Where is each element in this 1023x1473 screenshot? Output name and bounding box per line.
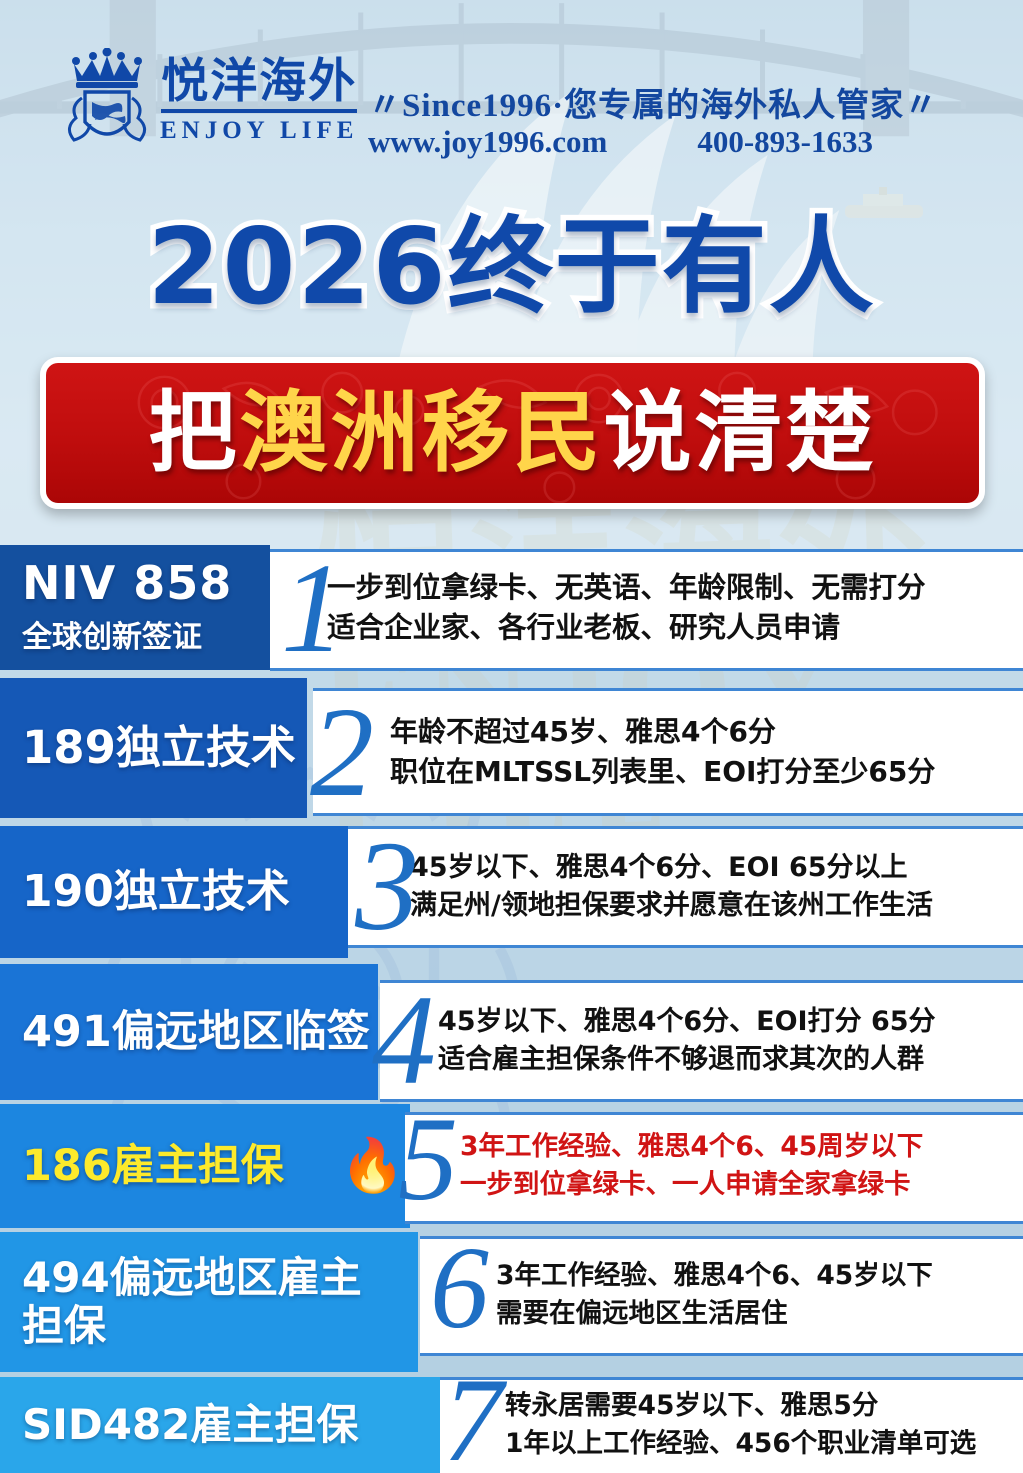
step-number: 4 xyxy=(372,986,436,1095)
detail-line: 转永居需要45岁以下、雅思5分 xyxy=(505,1387,1023,1425)
visa-label: NIV 858 全球创新签证 xyxy=(0,545,270,670)
detail-line: 需要在偏远地区生活居住 xyxy=(496,1295,1021,1333)
headline-text: 2026终于有人 xyxy=(147,215,875,320)
banner-part-2: 澳洲移民 xyxy=(239,381,603,484)
visa-code: 190独立技术 xyxy=(22,868,330,916)
phone-number[interactable]: 400-893-1633 xyxy=(697,124,873,160)
poster-root: 悦洋海外ENJOYLIFE xyxy=(0,0,1023,1473)
step-number: 7 xyxy=(443,1369,503,1471)
detail-line: 满足州/领地担保要求并愿意在该州工作生活 xyxy=(410,887,1020,925)
detail-line: 3年工作经验、雅思4个6、45周岁以下 xyxy=(460,1128,1020,1166)
step-number: 2 xyxy=(310,698,374,807)
step-number: 6 xyxy=(430,1238,489,1338)
detail-line: 45岁以下、雅思4个6分、EOI 65分以上 xyxy=(410,849,1020,887)
detail-line: 1年以上工作经验、456个职业清单可选 xyxy=(505,1425,1023,1463)
visa-row[interactable]: SID482雇主担保 7 转永居需要45岁以下、雅思5分 1年以上工作经验、45… xyxy=(0,1377,1023,1473)
banner-part-3: 说清楚 xyxy=(604,381,877,484)
header-slogan: 〃Since1996·您专属的海外私人管家〃 xyxy=(368,78,938,126)
visa-code: 186雇主担保 xyxy=(22,1143,392,1189)
visa-detail-lines: 转永居需要45岁以下、雅思5分 1年以上工作经验、456个职业清单可选 xyxy=(505,1371,1023,1473)
visa-label: 190独立技术 xyxy=(0,826,348,958)
visa-label: 491偏远地区临签 xyxy=(0,964,378,1100)
brand-logo: 悦洋海外 ENJOY LIFE xyxy=(62,48,358,156)
visa-detail-lines: 年龄不超过45岁、雅思4个6分 职位在MLTSSL列表里、EOI打分至少65分 xyxy=(390,694,1020,810)
visa-label: SID482雇主担保 xyxy=(0,1377,440,1473)
title-banner: 把澳洲移民说清楚 xyxy=(40,357,985,509)
visa-detail-lines: 3年工作经验、雅思4个6、45周岁以下 一步到位拿绿卡、一人申请全家拿绿卡 xyxy=(460,1112,1020,1220)
visa-code: 189独立技术 xyxy=(22,724,289,773)
visa-row-highlight[interactable]: 186雇主担保 🔥 5 3年工作经验、雅思4个6、45周岁以下 一步到位拿绿卡、… xyxy=(0,1104,1023,1232)
header: 悦洋海外 ENJOY LIFE 〃Since1996·您专属的海外私人管家〃 w… xyxy=(0,0,1023,200)
logo-english-name: ENJOY LIFE xyxy=(160,117,358,145)
crown-shield-globe-icon xyxy=(62,48,152,156)
visa-code: 494偏远地区雇主担保 xyxy=(22,1254,400,1350)
main-headline: 2026终于有人 xyxy=(0,215,1023,320)
visa-code: SID482雇主担保 xyxy=(22,1402,422,1447)
banner-text: 把澳洲移民说清楚 xyxy=(148,389,876,477)
detail-line: 适合雇主担保条件不够退而求其次的人群 xyxy=(438,1041,1020,1079)
visa-label: 189独立技术 xyxy=(0,678,307,818)
visa-row[interactable]: 494偏远地区雇主担保 6 3年工作经验、雅思4个6、45岁以下 需要在偏远地区… xyxy=(0,1232,1023,1377)
visa-row[interactable]: 189独立技术 2 年龄不超过45岁、雅思4个6分 职位在MLTSSL列表里、E… xyxy=(0,678,1023,826)
visa-detail-lines: 3年工作经验、雅思4个6、45岁以下 需要在偏远地区生活居住 xyxy=(496,1236,1021,1354)
header-contact: www.joy1996.com 400-893-1633 xyxy=(368,124,968,160)
detail-line: 适合企业家、各行业老板、研究人员申请 xyxy=(327,608,1017,648)
step-number: 5 xyxy=(398,1108,458,1210)
detail-line: 年龄不超过45岁、雅思4个6分 xyxy=(390,712,1020,752)
detail-line: 职位在MLTSSL列表里、EOI打分至少65分 xyxy=(390,752,1020,792)
visa-label: 494偏远地区雇主担保 xyxy=(0,1232,418,1372)
visa-code: 491偏远地区临签 xyxy=(22,1009,360,1055)
banner-part-1: 把 xyxy=(148,381,239,484)
logo-chinese-name: 悦洋海外 xyxy=(161,59,357,113)
visa-subtitle: 全球创新签证 xyxy=(22,612,252,656)
detail-line: 一步到位拿绿卡、一人申请全家拿绿卡 xyxy=(460,1166,1020,1204)
detail-line: 45岁以下、雅思4个6分、EOI打分 65分 xyxy=(438,1003,1020,1041)
visa-row[interactable]: 491偏远地区临签 4 45岁以下、雅思4个6分、EOI打分 65分 适合雇主担… xyxy=(0,964,1023,1104)
visa-detail-lines: 45岁以下、雅思4个6分、EOI打分 65分 适合雇主担保条件不够退而求其次的人… xyxy=(438,984,1020,1098)
visa-detail-lines: 一步到位拿绿卡、无英语、年龄限制、无需打分 适合企业家、各行业老板、研究人员申请 xyxy=(327,553,1017,663)
detail-line: 3年工作经验、雅思4个6、45岁以下 xyxy=(496,1257,1021,1295)
step-number: 1 xyxy=(281,554,345,663)
detail-line: 一步到位拿绿卡、无英语、年龄限制、无需打分 xyxy=(327,568,1017,608)
step-number: 3 xyxy=(355,832,419,941)
visa-list: NIV 858 全球创新签证 1 一步到位拿绿卡、无英语、年龄限制、无需打分 适… xyxy=(0,545,1023,1473)
visa-detail-lines: 45岁以下、雅思4个6分、EOI 65分以上 满足州/领地担保要求并愿意在该州工… xyxy=(410,830,1020,944)
website-link[interactable]: www.joy1996.com xyxy=(368,124,607,160)
visa-code: NIV 858 xyxy=(22,559,252,609)
visa-row[interactable]: NIV 858 全球创新签证 1 一步到位拿绿卡、无英语、年龄限制、无需打分 适… xyxy=(0,545,1023,678)
visa-row[interactable]: 190独立技术 3 45岁以下、雅思4个6分、EOI 65分以上 满足州/领地担… xyxy=(0,826,1023,964)
fire-icon: 🔥 xyxy=(340,1140,405,1192)
